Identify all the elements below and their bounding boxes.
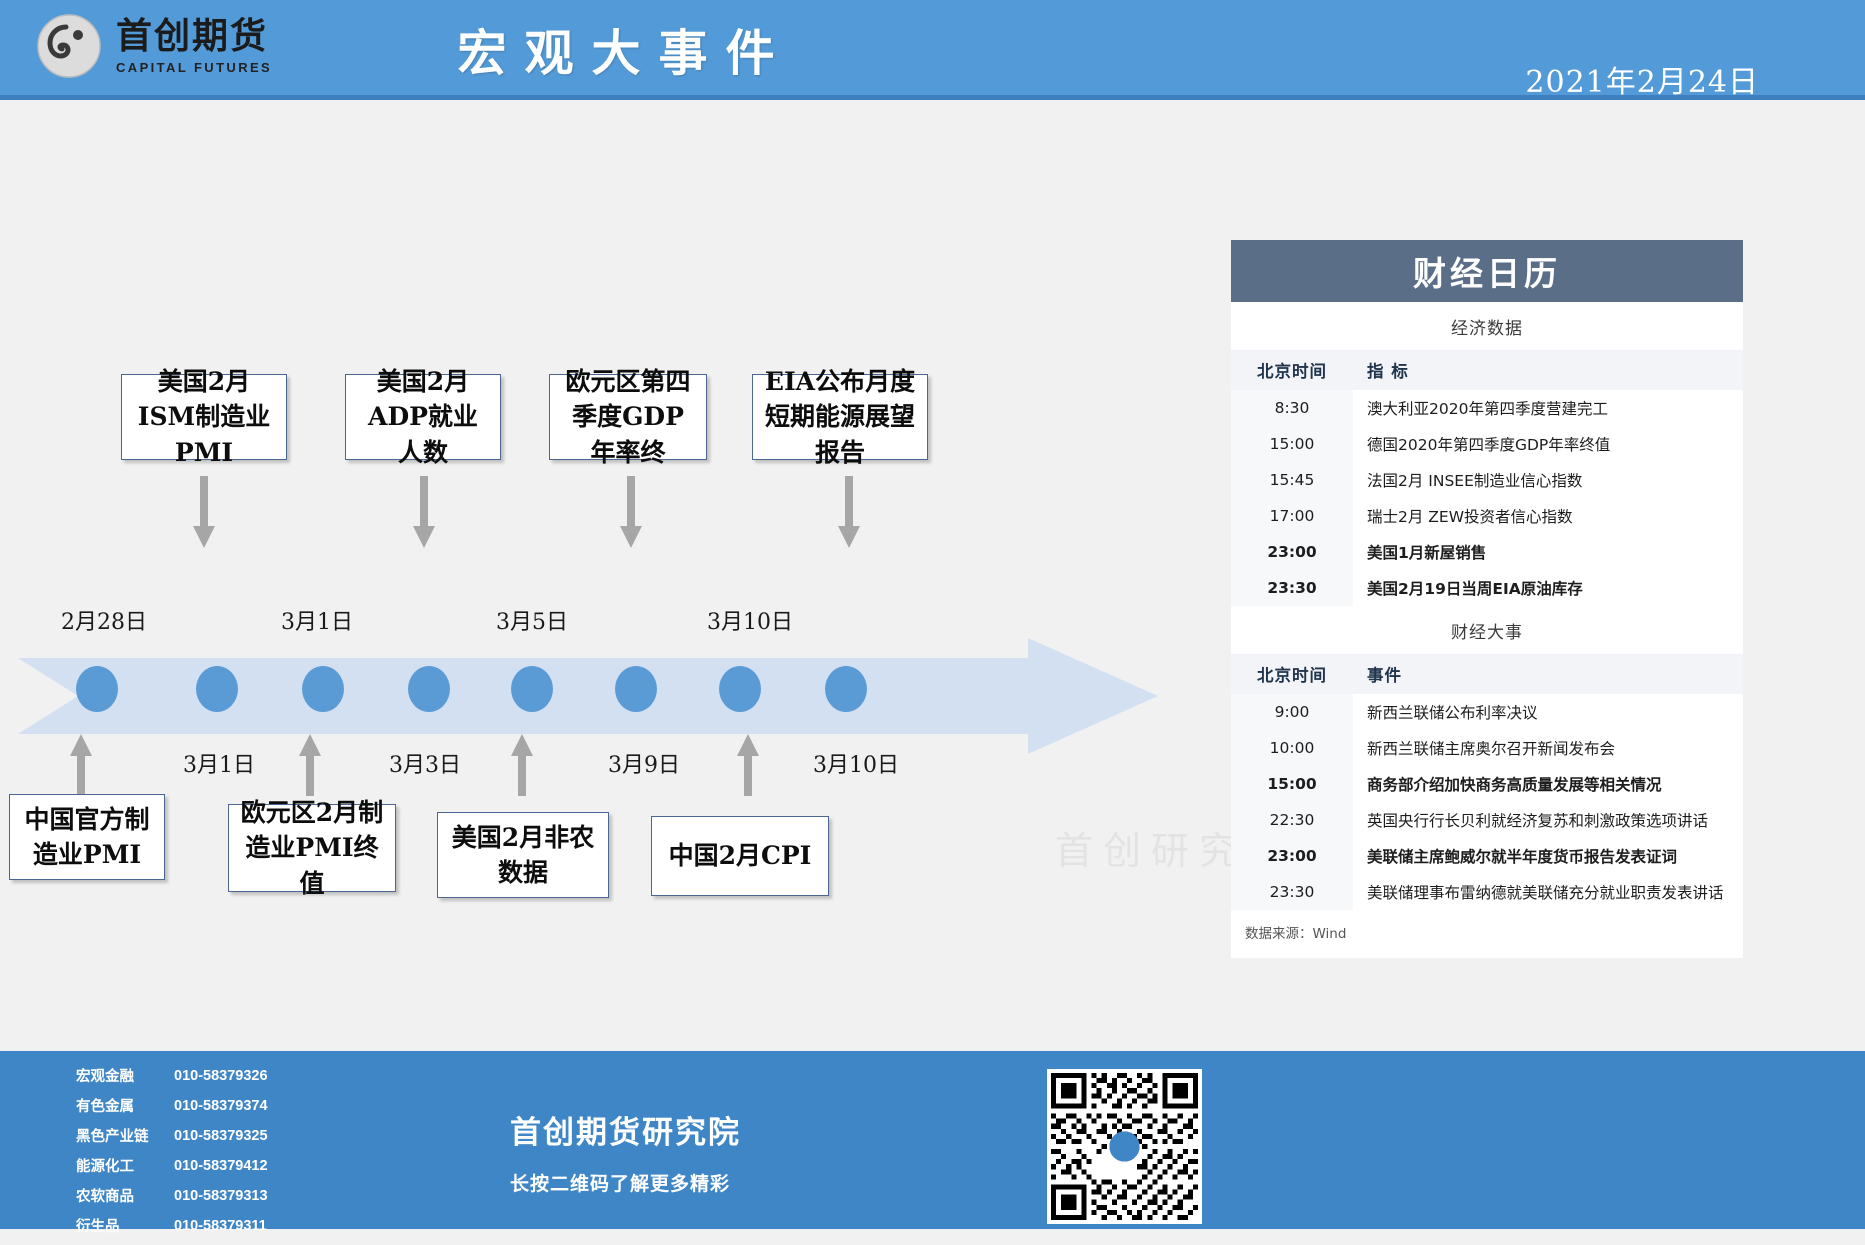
event-box-label: 美国2月ISM制造业PMI <box>132 364 276 471</box>
footer-title: 首创期货研究院 <box>510 1107 741 1152</box>
connector-arrow-up <box>737 734 759 796</box>
economic-data-table: 北京时间 指 标 8:30澳大利亚2020年第四季度营建完工15:00德国202… <box>1231 350 1743 606</box>
event-box-top[interactable]: 美国2月ISM制造业PMI <box>121 374 287 460</box>
contact-phone: 010-58379311 <box>174 1218 267 1234</box>
event-box-label: 美国2月非农数据 <box>448 820 598 891</box>
timeline-date-bottom: 3月10日 <box>813 747 899 779</box>
calendar-row-name: 商务部介绍加快商务高质量发展等相关情况 <box>1353 766 1743 802</box>
financial-events-table: 北京时间 事件 9:00新西兰联储公布利率决议10:00新西兰联储主席奥尔召开新… <box>1231 654 1743 910</box>
calendar-section-events: 财经大事 <box>1231 606 1743 654</box>
timeline-date-top: 2月28日 <box>61 604 147 636</box>
calendar-row: 23:00美国1月新屋销售 <box>1231 534 1743 570</box>
connector-arrow-down <box>620 476 642 548</box>
calendar-row-time: 17:00 <box>1231 498 1353 534</box>
contact-row: 农软商品010-58379313 <box>76 1185 268 1206</box>
calendar-row-time: 23:30 <box>1231 570 1353 606</box>
calendar-section-economic: 经济数据 <box>1231 302 1743 350</box>
footer-brand: 首创期货研究院 长按二维码了解更多精彩 <box>510 1107 741 1196</box>
calendar-row-name: 新西兰联储公布利率决议 <box>1353 694 1743 730</box>
event-box-label: EIA公布月度短期能源展望报告 <box>763 364 917 471</box>
event-box-top[interactable]: 美国2月ADP就业人数 <box>345 374 501 460</box>
calendar-row: 15:00德国2020年第四季度GDP年率终值 <box>1231 426 1743 462</box>
calendar-row-time: 23:00 <box>1231 838 1353 874</box>
calendar-row: 9:00新西兰联储公布利率决议 <box>1231 694 1743 730</box>
contact-list: 宏观金融010-58379326有色金属010-58379374黑色产业链010… <box>76 1065 268 1245</box>
calendar-row-name: 美联储主席鲍威尔就半年度货币报告发表证词 <box>1353 838 1743 874</box>
timeline-arrow <box>18 638 1158 754</box>
timeline-dot <box>196 666 238 712</box>
calendar-row-name: 英国央行行长贝利就经济复苏和刺激政策选项讲话 <box>1353 802 1743 838</box>
event-box-bottom[interactable]: 欧元区2月制造业PMI终值 <box>228 804 396 892</box>
calendar-row-name: 美国1月新屋销售 <box>1353 534 1743 570</box>
calendar-row-name: 美联储理事布雷纳德就美联储充分就业职责发表讲话 <box>1353 874 1743 910</box>
contact-label: 黑色产业链 <box>76 1125 174 1146</box>
timeline-dot <box>76 666 118 712</box>
timeline-dot <box>719 666 761 712</box>
contact-phone: 010-58379412 <box>174 1158 268 1174</box>
contact-label: 衍生品 <box>76 1215 174 1236</box>
calendar-row-name: 美国2月19日当周EIA原油库存 <box>1353 570 1743 606</box>
event-box-label: 欧元区第四季度GDP年率终 <box>560 364 696 471</box>
calendar-row-name: 德国2020年第四季度GDP年率终值 <box>1353 426 1743 462</box>
contact-label: 能源化工 <box>76 1155 174 1176</box>
calendar-row: 23:30美联储理事布雷纳德就美联储充分就业职责发表讲话 <box>1231 874 1743 910</box>
contact-row: 能源化工010-58379412 <box>76 1155 268 1176</box>
calendar-row-time: 8:30 <box>1231 390 1353 426</box>
contact-label: 有色金属 <box>76 1095 174 1116</box>
calendar-row: 17:00瑞士2月 ZEW投资者信心指数 <box>1231 498 1743 534</box>
page-header: 首创期货 CAPITAL FUTURES 宏观大事件 2021年2月24日 <box>0 0 1865 99</box>
calendar-row: 22:30英国央行行长贝利就经济复苏和刺激政策选项讲话 <box>1231 802 1743 838</box>
calendar-row: 23:30美国2月19日当周EIA原油库存 <box>1231 570 1743 606</box>
calendar-row-time: 15:00 <box>1231 766 1353 802</box>
connector-arrow-down <box>413 476 435 548</box>
timeline-dot <box>302 666 344 712</box>
event-box-label: 中国2月CPI <box>669 838 812 874</box>
event-box-label: 中国官方制造业PMI <box>20 802 154 873</box>
event-box-label: 美国2月ADP就业人数 <box>356 364 490 471</box>
timeline-date-bottom: 3月3日 <box>389 747 461 779</box>
contact-label: 宏观金融 <box>76 1065 174 1086</box>
col-header-indicator: 指 标 <box>1353 350 1743 390</box>
calendar-row: 10:00新西兰联储主席奥尔召开新闻发布会 <box>1231 730 1743 766</box>
col-header-event: 事件 <box>1353 654 1743 694</box>
event-box-bottom[interactable]: 美国2月非农数据 <box>437 812 609 898</box>
calendar-row: 15:45法国2月 INSEE制造业信心指数 <box>1231 462 1743 498</box>
connector-arrow-down <box>193 476 215 548</box>
qr-code[interactable] <box>1047 1069 1202 1224</box>
event-box-label: 欧元区2月制造业PMI终值 <box>239 795 385 902</box>
calendar-row-time: 10:00 <box>1231 730 1353 766</box>
event-box-bottom[interactable]: 中国2月CPI <box>651 816 829 896</box>
data-source-note: 数据来源：Wind <box>1231 910 1743 958</box>
contact-phone: 010-58379313 <box>174 1188 268 1204</box>
timeline-date-bottom: 3月1日 <box>183 747 255 779</box>
timeline-date-top: 3月5日 <box>496 604 568 636</box>
contact-row: 衍生品010-58379311 <box>76 1215 268 1236</box>
calendar-row-time: 15:45 <box>1231 462 1353 498</box>
contact-row: 宏观金融010-58379326 <box>76 1065 268 1086</box>
connector-arrow-up <box>511 734 533 796</box>
calendar-row-time: 22:30 <box>1231 802 1353 838</box>
financial-calendar-panel: 财经日历 经济数据 北京时间 指 标 8:30澳大利亚2020年第四季度营建完工… <box>1231 240 1743 958</box>
connector-arrow-up <box>70 734 92 796</box>
calendar-row: 23:00美联储主席鲍威尔就半年度货币报告发表证词 <box>1231 838 1743 874</box>
calendar-row-name: 新西兰联储主席奥尔召开新闻发布会 <box>1353 730 1743 766</box>
connector-arrow-up <box>299 734 321 796</box>
timeline-dot <box>408 666 450 712</box>
watermark-text: 首创研究 <box>1055 820 1247 875</box>
calendar-row: 15:00商务部介绍加快商务高质量发展等相关情况 <box>1231 766 1743 802</box>
timeline-dot <box>511 666 553 712</box>
calendar-row-name: 瑞士2月 ZEW投资者信心指数 <box>1353 498 1743 534</box>
timeline-dot <box>825 666 867 712</box>
contact-label: 农软商品 <box>76 1185 174 1206</box>
timeline-date-top: 3月10日 <box>707 604 793 636</box>
col-header-time: 北京时间 <box>1231 654 1353 694</box>
event-box-bottom[interactable]: 中国官方制造业PMI <box>9 794 165 880</box>
calendar-row-name: 澳大利亚2020年第四季度营建完工 <box>1353 390 1743 426</box>
calendar-row-name: 法国2月 INSEE制造业信心指数 <box>1353 462 1743 498</box>
timeline-date-top: 3月1日 <box>281 604 353 636</box>
col-header-time: 北京时间 <box>1231 350 1353 390</box>
contact-phone: 010-58379374 <box>174 1098 268 1114</box>
calendar-row-time: 9:00 <box>1231 694 1353 730</box>
calendar-row: 8:30澳大利亚2020年第四季度营建完工 <box>1231 390 1743 426</box>
timeline-dot <box>615 666 657 712</box>
page-title: 宏观大事件 <box>0 14 1250 85</box>
contact-row: 黑色产业链010-58379325 <box>76 1125 268 1146</box>
calendar-row-time: 15:00 <box>1231 426 1353 462</box>
page-footer: 宏观金融010-58379326有色金属010-58379374黑色产业链010… <box>0 1051 1865 1229</box>
main-canvas: 首创研究 Wind.d 2月28日 3月1日 3月5日 3月10日 3月1日 3… <box>0 100 1865 1051</box>
calendar-row-time: 23:00 <box>1231 534 1353 570</box>
contact-phone: 010-58379325 <box>174 1128 268 1144</box>
footer-subtitle: 长按二维码了解更多精彩 <box>510 1169 741 1196</box>
connector-arrow-down <box>838 476 860 548</box>
event-box-top[interactable]: 欧元区第四季度GDP年率终 <box>549 374 707 460</box>
calendar-row-time: 23:30 <box>1231 874 1353 910</box>
contact-row: 有色金属010-58379374 <box>76 1095 268 1116</box>
contact-phone: 010-58379326 <box>174 1068 268 1084</box>
event-box-top[interactable]: EIA公布月度短期能源展望报告 <box>752 374 928 460</box>
timeline-date-bottom: 3月9日 <box>608 747 680 779</box>
calendar-title: 财经日历 <box>1231 240 1743 302</box>
